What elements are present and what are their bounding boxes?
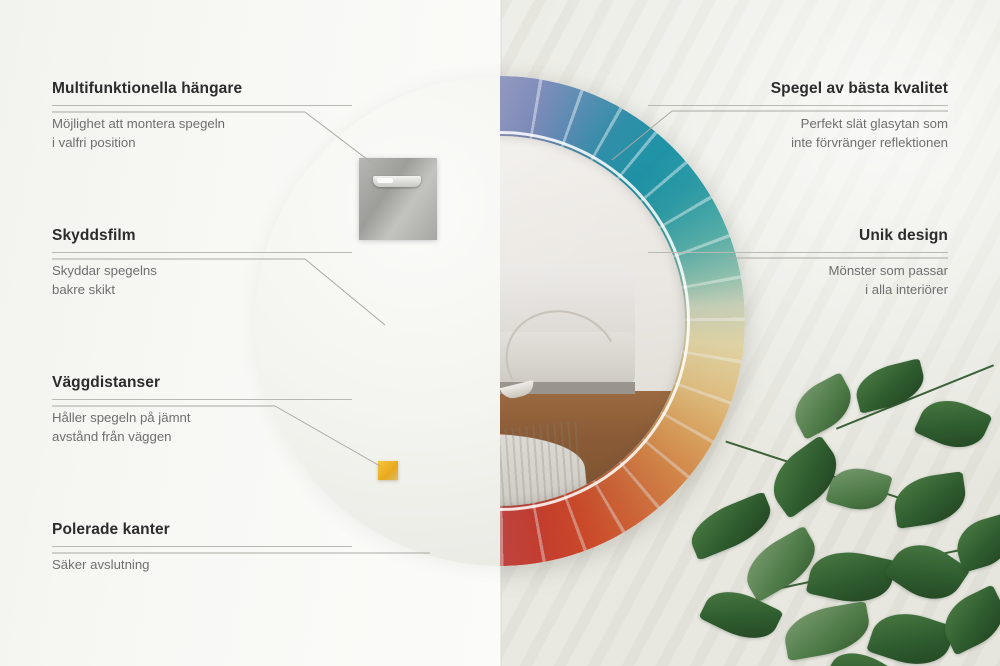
leaf bbox=[913, 390, 992, 459]
callout-unique-design-text: Mönster som passar i alla interiörer bbox=[648, 262, 948, 299]
callout-unique-design-title: Unik design bbox=[648, 227, 948, 245]
callout-unique-design-rule bbox=[648, 252, 948, 253]
foreground-foliage bbox=[680, 356, 1000, 666]
callout-best-quality-rule bbox=[648, 105, 948, 106]
callout-best-quality: Spegel av bästa kvalitet Perfekt slät gl… bbox=[648, 80, 948, 152]
callout-best-quality-text: Perfekt slät glasytan som inte förvränge… bbox=[648, 115, 948, 152]
callout-hangers-rule bbox=[52, 105, 352, 106]
callout-wall-spacers-text: Håller spegeln på jämnt avstånd från väg… bbox=[52, 409, 352, 446]
callout-polished-edges-title: Polerade kanter bbox=[52, 521, 352, 539]
callout-unique-design: Unik design Mönster som passar i alla in… bbox=[648, 227, 948, 299]
hanger-bracket-icon bbox=[373, 176, 421, 187]
hanger-plate-detail bbox=[359, 158, 437, 240]
callout-hangers-text: Möjlighet att montera spegeln i valfri p… bbox=[52, 115, 352, 152]
callout-protective-film: Skyddsfilm Skyddar spegelns bakre skikt bbox=[52, 227, 352, 299]
leaf bbox=[891, 471, 969, 529]
callout-protective-film-title: Skyddsfilm bbox=[52, 227, 352, 245]
callout-polished-edges: Polerade kanter Säker avslutning bbox=[52, 521, 352, 575]
callout-wall-spacers-title: Väggdistanser bbox=[52, 374, 352, 392]
callout-wall-spacers: Väggdistanser Håller spegeln på jämnt av… bbox=[52, 374, 352, 446]
infographic-canvas: Multifunktionella hängare Möjlighet att … bbox=[0, 0, 1000, 666]
leaf bbox=[781, 601, 874, 661]
callout-protective-film-text: Skyddar spegelns bakre skikt bbox=[52, 262, 352, 299]
callout-wall-spacers-rule bbox=[52, 399, 352, 400]
leaf bbox=[851, 358, 929, 414]
leaf bbox=[806, 544, 897, 610]
callout-hangers-title: Multifunktionella hängare bbox=[52, 80, 352, 98]
callout-polished-edges-rule bbox=[52, 546, 352, 547]
callout-hangers: Multifunktionella hängare Möjlighet att … bbox=[52, 80, 352, 152]
leaf bbox=[866, 603, 956, 666]
callout-best-quality-title: Spegel av bästa kvalitet bbox=[648, 80, 948, 98]
callout-protective-film-rule bbox=[52, 252, 352, 253]
leaf bbox=[785, 372, 860, 440]
wall-spacer-detail bbox=[378, 461, 398, 480]
callout-polished-edges-text: Säker avslutning bbox=[52, 556, 352, 575]
